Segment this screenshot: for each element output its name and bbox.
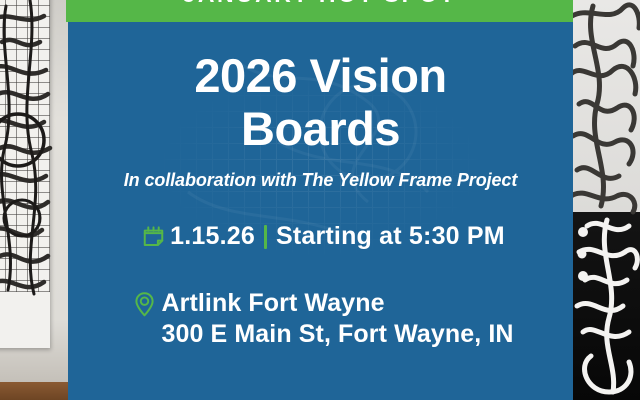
- date-time-text: 1.15.26 Starting at 5:30 PM: [170, 222, 505, 251]
- headline-line-2: Boards: [68, 103, 573, 156]
- subtitle-text: In collaboration with The Yellow Frame P…: [68, 170, 573, 191]
- event-time: Starting at 5:30 PM: [276, 222, 505, 251]
- calendar-icon: [136, 224, 170, 249]
- page-title: 2026 Vision Boards: [68, 50, 573, 155]
- map-pin-icon: [127, 288, 161, 318]
- date-row: 1.15.26 Starting at 5:30 PM: [68, 222, 573, 251]
- location-text: Artlink Fort Wayne 300 E Main St, Fort W…: [161, 288, 513, 349]
- artwork-brush-strokes-left: [0, 0, 68, 320]
- venue-address: 300 E Main St, Fort Wayne, IN: [161, 319, 513, 350]
- background-artwork-left: [0, 0, 68, 400]
- artwork-dots: [578, 227, 589, 281]
- event-date: 1.15.26: [170, 222, 255, 251]
- panel-content: 2026 Vision Boards In collaboration with…: [68, 22, 573, 400]
- kicker-text: JANUARY HOT SPOT: [66, 0, 573, 5]
- blue-content-panel: 2026 Vision Boards In collaboration with…: [68, 22, 573, 400]
- gallery-floor: [0, 382, 68, 400]
- flyer-canvas: JANUARY HOT SPOT 2026 Vision Boards In c…: [0, 0, 640, 400]
- date-time-divider: [264, 225, 267, 249]
- artwork-calligraphy-strokes: [573, 0, 640, 400]
- location-row: Artlink Fort Wayne 300 E Main St, Fort W…: [68, 288, 573, 349]
- background-artwork-right: [573, 0, 640, 400]
- headline-line-1: 2026 Vision: [194, 49, 446, 102]
- venue-name: Artlink Fort Wayne: [161, 288, 513, 319]
